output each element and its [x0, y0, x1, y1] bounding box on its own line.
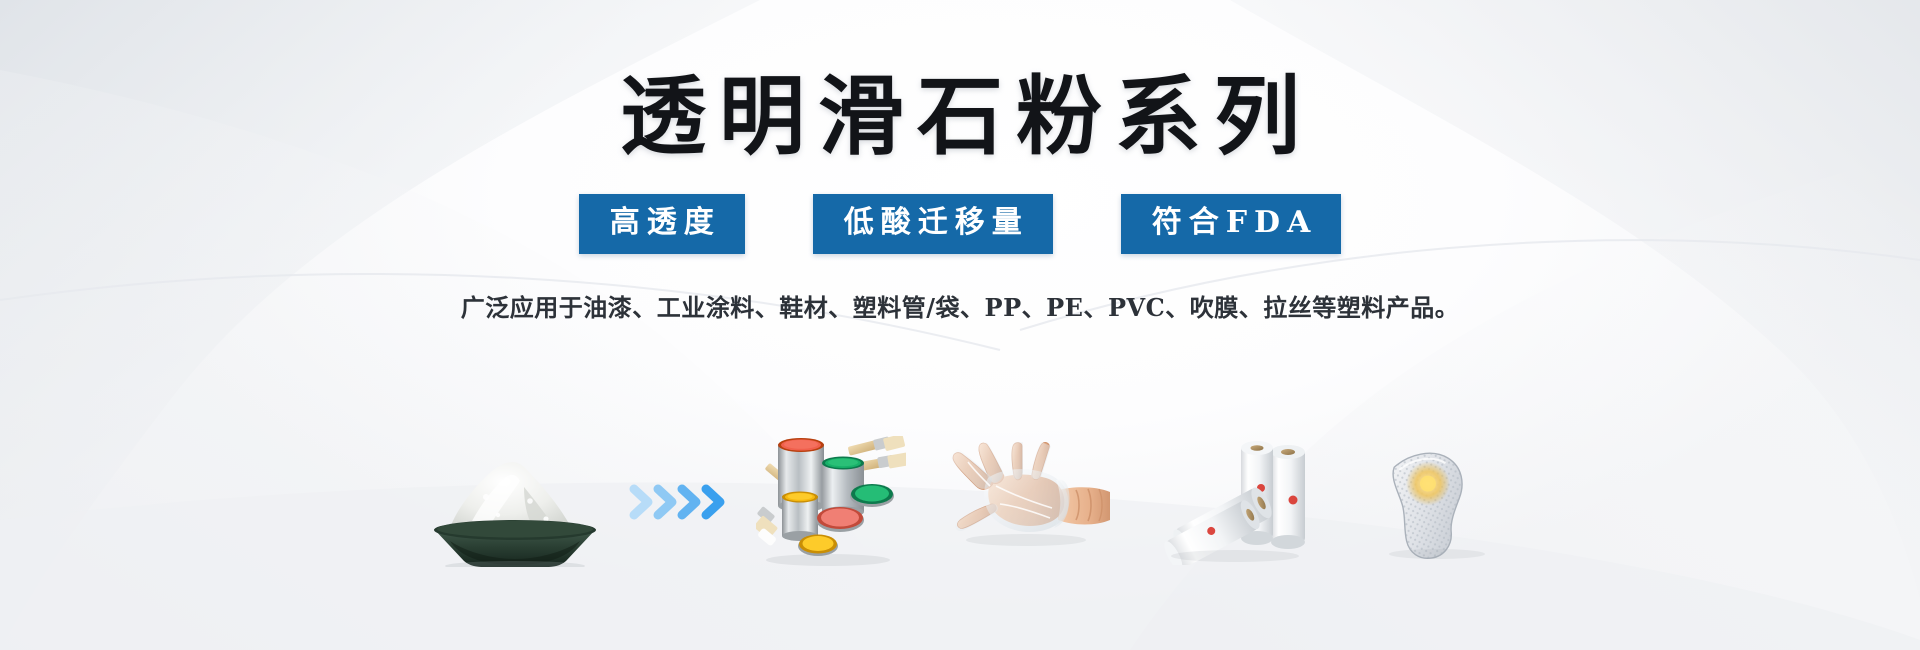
process-arrow-icon [628, 479, 738, 525]
feature-badge-high-transparency: 高透度 [579, 194, 745, 254]
product-banner: 透明滑石粉系列 高透度 低酸迁移量 符合FDA 广泛应用于油漆、工业涂料、鞋材、… [0, 0, 1920, 650]
page-title: 透明滑石粉系列 [607, 72, 1313, 162]
product-talc-powder-bowl [420, 437, 610, 567]
feature-badge-low-acid-migration: 低酸迁移量 [813, 194, 1053, 254]
product-paint-cans [756, 436, 906, 568]
feature-badge-fda-compliant: 符合FDA [1121, 194, 1342, 254]
product-plastic-glove [948, 442, 1113, 562]
banner-content: 透明滑石粉系列 高透度 低酸迁移量 符合FDA 广泛应用于油漆、工业涂料、鞋材、… [0, 0, 1920, 323]
product-film-rolls [1163, 440, 1313, 565]
product-shoe-insole [1371, 442, 1501, 562]
product-image-strip [0, 432, 1920, 572]
application-subtitle: 广泛应用于油漆、工业涂料、鞋材、塑料管/袋、PP、PE、PVC、吹膜、拉丝等塑料… [461, 288, 1459, 323]
feature-badge-list: 高透度 低酸迁移量 符合FDA [579, 194, 1342, 254]
